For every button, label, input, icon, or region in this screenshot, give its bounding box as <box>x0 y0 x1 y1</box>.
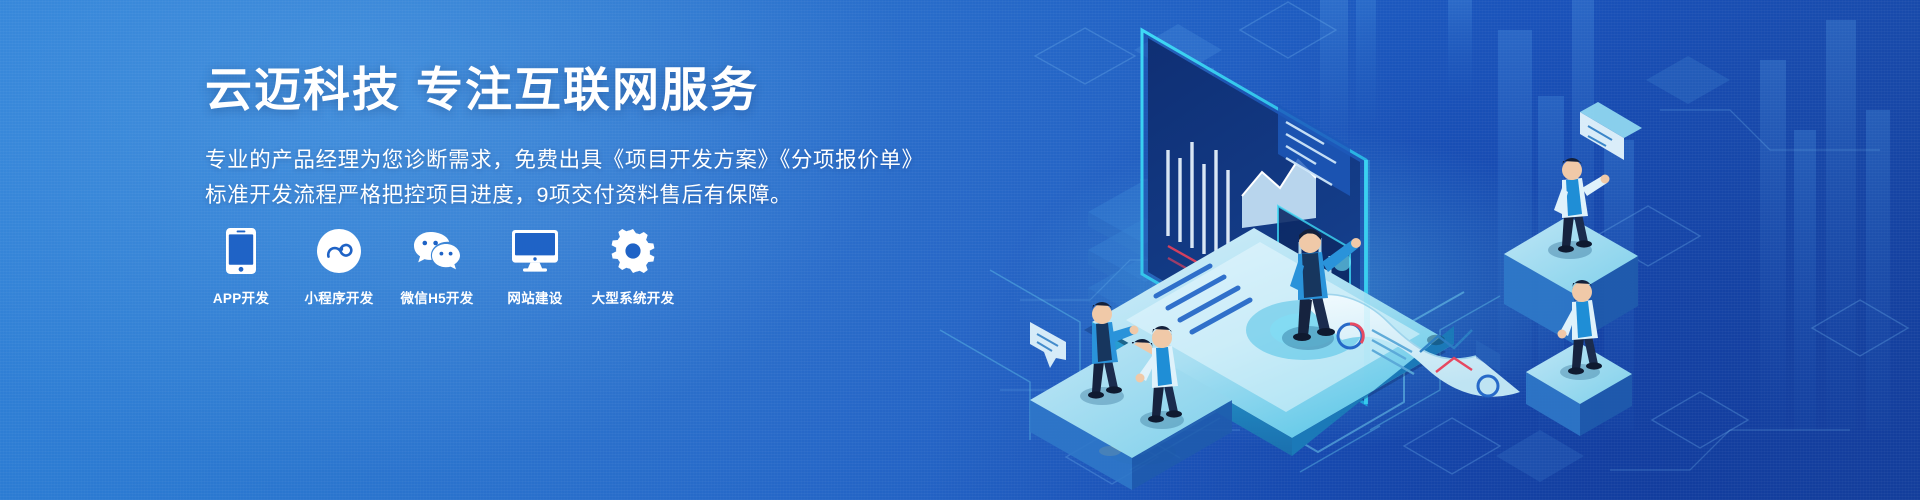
service-label: 微信H5开发 <box>400 287 473 307</box>
service-item-large-system[interactable]: 大型系统开发 <box>597 228 669 307</box>
gear-settings-icon <box>611 228 655 274</box>
service-item-wechat-h5[interactable]: 微信H5开发 <box>401 228 473 307</box>
foreground-glow <box>1364 160 1370 404</box>
banner-copy: 云迈科技 专注互联网服务 专业的产品经理为您诊断需求，免费出具《项目开发方案》《… <box>205 62 925 213</box>
service-list: APP开发 小程序开发 <box>205 228 669 307</box>
hero-banner: 云迈科技 专注互联网服务 专业的产品经理为您诊断需求，免费出具《项目开发方案》《… <box>0 0 1920 500</box>
service-item-website[interactable]: 网站建设 <box>499 228 571 307</box>
subtitle-line-1: 专业的产品经理为您诊断需求，免费出具《项目开发方案》《分项报价单》 <box>205 143 925 178</box>
floating-info-card <box>1580 102 1642 160</box>
service-item-mini-program[interactable]: 小程序开发 <box>303 228 375 307</box>
banner-subtitle: 专业的产品经理为您诊断需求，免费出具《项目开发方案》《分项报价单》 标准开发流程… <box>205 143 925 213</box>
service-item-app[interactable]: APP开发 <box>205 228 277 307</box>
desktop-monitor-icon <box>512 228 558 274</box>
service-label: 网站建设 <box>507 287 562 307</box>
page-title: 云迈科技 专注互联网服务 <box>205 62 925 117</box>
service-label: 小程序开发 <box>305 287 374 307</box>
service-label: 大型系统开发 <box>592 287 675 307</box>
subtitle-line-2: 标准开发流程严格把控项目进度，9项交付资料售后有保障。 <box>205 178 925 213</box>
mobile-phone-icon <box>226 228 256 274</box>
wechat-chat-bubbles-icon <box>413 228 461 274</box>
isometric-business-analytics-illustration <box>880 0 1920 500</box>
wechat-mini-program-icon <box>317 228 361 274</box>
service-label: APP开发 <box>213 287 269 307</box>
